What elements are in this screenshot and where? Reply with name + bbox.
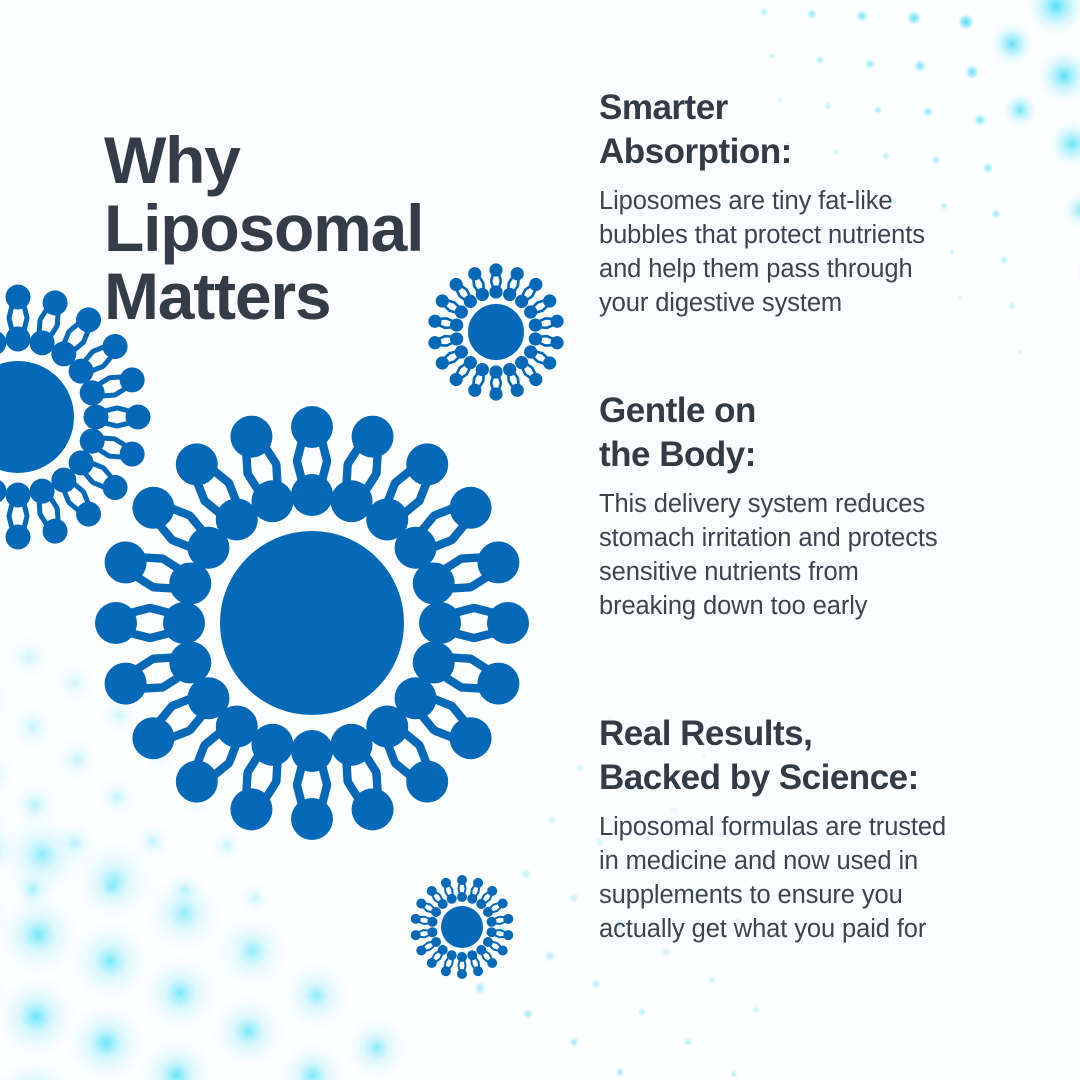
lipid-head — [419, 602, 461, 644]
benefit-heading: Real Results, Backed by Science: — [599, 712, 946, 800]
benefit-heading: Gentle on the Body: — [599, 389, 937, 477]
lipid-tail — [246, 773, 247, 794]
lipid-tail — [432, 954, 434, 959]
lipid-tail — [276, 465, 277, 486]
lipid-head — [489, 387, 502, 400]
lipid-tail — [212, 469, 228, 482]
lipid-tail — [471, 959, 472, 964]
lipid-tail — [446, 957, 449, 961]
lipid-tail — [460, 364, 466, 368]
lipid-head — [6, 483, 31, 508]
lipid-tail — [436, 959, 440, 962]
lipid-head — [6, 525, 31, 550]
lipid-tail — [485, 900, 489, 903]
lipid-tail — [482, 895, 484, 900]
lipid-tail — [395, 763, 411, 776]
lipid-tail — [39, 321, 40, 334]
lipid-tail — [431, 905, 435, 909]
lipid-tail — [452, 959, 453, 964]
lipid-tail — [454, 357, 459, 362]
lipid-tail — [432, 895, 434, 900]
lipid-tail — [418, 922, 423, 924]
lipid-tail — [464, 966, 465, 971]
lipid-tail — [265, 446, 276, 464]
lipid-tail — [449, 587, 470, 588]
lipid-tail — [447, 362, 454, 364]
benefit-block-real-results: Real Results, Backed by Science: Liposom… — [599, 712, 946, 946]
lipid-tail — [458, 889, 459, 894]
lipid-tail — [518, 379, 519, 386]
lipid-tail — [491, 376, 493, 383]
lipid-tail — [527, 364, 533, 368]
lipid-tail — [449, 965, 452, 969]
lipid-head — [457, 952, 467, 962]
lipid-head — [291, 798, 333, 840]
lipid-tail — [73, 483, 83, 491]
lipid-tail — [494, 949, 499, 950]
lipid-tail — [24, 503, 27, 516]
lipid-tail — [490, 895, 492, 900]
lipid-tail — [449, 657, 470, 658]
lipid-tail — [98, 449, 109, 456]
lipid-tail — [473, 379, 474, 386]
lipid-tail — [431, 946, 435, 950]
lipid-tail — [464, 883, 465, 888]
lipid-tail — [440, 895, 442, 900]
lipid-tail — [116, 388, 127, 395]
lipid-tail — [348, 446, 359, 464]
infographic-canvas: Why Liposomal Matters Smarter Absorption… — [0, 0, 1080, 1080]
lipid-tail — [246, 452, 247, 473]
lipid-head — [291, 474, 333, 516]
lipid-tail — [494, 903, 499, 904]
lipid-tail — [154, 657, 175, 658]
lipid-tail — [135, 576, 153, 587]
lipid-tail — [499, 383, 501, 390]
lipid-tail — [475, 892, 478, 896]
lipid-tail — [403, 501, 419, 514]
lipid-tail — [376, 773, 377, 794]
lipid-tail — [101, 438, 114, 439]
lipid-tail — [129, 633, 149, 638]
lipid-tail — [141, 687, 162, 688]
lipid-tail — [420, 714, 433, 730]
lipid-tail — [443, 676, 461, 687]
lipid-tail — [163, 676, 181, 687]
lipid-tail — [533, 357, 538, 362]
lipid-tail — [346, 465, 347, 486]
benefit-heading: Smarter Absorption: — [599, 86, 925, 174]
lipid-head — [291, 406, 333, 448]
lipid-tail — [452, 523, 465, 539]
lipid-tail — [365, 474, 376, 492]
lipid-tail — [98, 378, 109, 385]
lipid-tail — [297, 462, 302, 482]
lipid-tail — [425, 949, 430, 950]
lipid-tail — [50, 326, 57, 337]
lipid-head — [0, 330, 6, 355]
liposome-bottom-core — [441, 906, 483, 948]
lipid-tail — [472, 965, 475, 969]
lipid-tail — [322, 440, 327, 460]
lipid-tail — [39, 500, 40, 513]
lipid-tail — [104, 408, 117, 411]
lipid-tail — [452, 706, 465, 722]
lipid-head — [457, 969, 467, 979]
lipid-tail — [129, 608, 149, 613]
lipid-tail — [101, 395, 114, 396]
lipid-tail — [490, 905, 494, 909]
lipid-tail — [297, 786, 302, 806]
lipid-tail — [9, 503, 12, 516]
lipid-tail — [297, 440, 302, 460]
lipid-tail — [491, 383, 493, 390]
lipid-tail — [547, 336, 553, 339]
lipid-tail — [346, 760, 347, 781]
lipid-head — [6, 327, 31, 352]
lipid-tail — [118, 423, 131, 426]
lipid-tail — [40, 308, 47, 319]
lipid-tail — [456, 368, 459, 374]
lipid-tail — [543, 354, 548, 359]
lipid-tail — [205, 731, 221, 744]
lipid-tail — [190, 714, 203, 730]
lipid-tail — [322, 764, 327, 784]
lipid-tail — [522, 368, 525, 374]
lipid-tail — [322, 786, 327, 806]
lipid-tail — [436, 892, 440, 895]
lipid-tail — [104, 356, 112, 366]
lipid-tail — [472, 885, 475, 889]
lipid-tail — [479, 382, 483, 388]
liposome-left-core — [0, 361, 74, 473]
lipid-tail — [69, 323, 79, 331]
lipid-tail — [446, 892, 449, 896]
benefit-body: This delivery system reduces stomach irr… — [599, 487, 937, 623]
lipid-tail — [514, 372, 518, 378]
lipid-tail — [205, 501, 221, 514]
lipid-tail — [9, 319, 12, 332]
lipid-tail — [297, 764, 302, 784]
lipid-tail — [453, 633, 473, 638]
lipid-tail — [435, 900, 439, 903]
lipid-tail — [497, 907, 501, 911]
lipid-tail — [276, 760, 277, 781]
lipid-tail — [57, 312, 58, 325]
lipid-tail — [425, 917, 430, 919]
lipid-tail — [425, 935, 430, 937]
lipid-tail — [474, 372, 478, 378]
lipid-tail — [265, 782, 276, 800]
page-title: Why Liposomal Matters — [104, 126, 574, 330]
lipid-tail — [492, 911, 497, 912]
lipid-tail — [508, 374, 509, 381]
lipid-tail — [9, 305, 12, 318]
lipid-tail — [536, 351, 543, 353]
lipid-tail — [494, 917, 499, 919]
lipid-tail — [479, 887, 480, 892]
lipid-head — [6, 285, 31, 310]
lipid-tail — [135, 659, 153, 670]
lipid-tail — [539, 343, 545, 346]
lipid-head — [126, 405, 151, 430]
lipid-head — [457, 892, 467, 902]
lipid-tail — [418, 930, 423, 932]
lipid-tail — [376, 452, 377, 473]
lipid-head — [487, 602, 529, 644]
lipid-tail — [84, 352, 92, 362]
lipid-tail — [84, 472, 92, 482]
lipid-tail — [9, 517, 12, 530]
lipid-tail — [118, 408, 131, 411]
lipid-tail — [110, 456, 123, 457]
lipid-tail — [420, 516, 433, 532]
lipid-tail — [462, 557, 483, 558]
lipid-tail — [427, 942, 432, 943]
lipid-tail — [440, 954, 442, 959]
lipid-head — [489, 365, 502, 378]
lipid-tail — [475, 608, 495, 613]
lipid-tail — [501, 922, 506, 924]
benefit-body: Liposomes are tiny fat-like bubbles that… — [599, 184, 925, 320]
lipid-tail — [494, 935, 499, 937]
lipid-tail — [471, 659, 489, 670]
lipid-tail — [447, 343, 453, 346]
lipid-tail — [445, 962, 446, 967]
lipid-tail — [467, 368, 470, 374]
benefit-block-smarter-absorption: Smarter Absorption: Liposomes are tiny f… — [599, 86, 925, 320]
lipid-head — [291, 730, 333, 772]
lipid-tail — [427, 911, 432, 912]
lipid-tail — [24, 319, 27, 332]
lipid-tail — [248, 474, 259, 492]
lipid-tail — [110, 377, 123, 378]
lipid-tail — [458, 966, 459, 971]
lipid-tail — [482, 954, 484, 959]
lipid-tail — [438, 336, 444, 339]
lipid-tail — [158, 706, 171, 722]
lipid-tail — [24, 517, 27, 530]
lipid-tail — [443, 559, 461, 570]
lipid-tail — [248, 754, 259, 772]
lipid-tail — [525, 374, 531, 378]
lipid-tail — [533, 368, 536, 374]
lipid-tail — [450, 351, 457, 353]
lipid-tail — [104, 423, 117, 426]
lipid-tail — [403, 731, 419, 744]
lipid-tail — [501, 930, 506, 932]
lipid-tail — [509, 382, 513, 388]
lipid-tail — [322, 462, 327, 482]
lipid-tail — [425, 903, 430, 904]
lipid-tail — [461, 374, 467, 378]
lipid-tail — [40, 515, 47, 526]
lipid-tail — [490, 954, 492, 959]
lipid-tail — [471, 576, 489, 587]
lipid-tail — [50, 497, 57, 508]
lipid-tail — [483, 374, 484, 381]
lipid-tail — [212, 763, 228, 776]
lipid-tail — [540, 336, 547, 337]
lipid-tail — [475, 633, 495, 638]
benefit-body: Liposomal formulas are trusted in medici… — [599, 810, 946, 946]
lipid-head — [95, 602, 137, 644]
lipid-tail — [464, 889, 465, 894]
liposome-bottom-icon — [404, 869, 520, 985]
lipid-tail — [453, 608, 473, 613]
lipid-tail — [475, 957, 478, 961]
lipid-tail — [464, 960, 465, 965]
lipid-tail — [423, 907, 427, 911]
lipid-tail — [435, 951, 439, 954]
lipid-tail — [458, 960, 459, 965]
lipid-tail — [538, 362, 545, 364]
lipid-tail — [449, 885, 452, 889]
lipid-tail — [479, 962, 480, 967]
lipid-tail — [485, 951, 489, 954]
lipid-tail — [116, 439, 127, 446]
lipid-tail — [490, 946, 494, 950]
lipid-tail — [497, 943, 501, 947]
lipid-tail — [445, 336, 452, 337]
lipid-tail — [423, 943, 427, 947]
lipid-tail — [458, 883, 459, 888]
lipid-tail — [73, 343, 83, 351]
lipid-tail — [151, 608, 171, 613]
lipid-tail — [462, 687, 483, 688]
lipid-tail — [365, 754, 376, 772]
lipid-tail — [104, 468, 112, 478]
lipid-tail — [151, 633, 171, 638]
liposome-main-core — [220, 531, 404, 715]
lipid-tail — [444, 354, 449, 359]
lipid-tail — [499, 376, 501, 383]
lipid-tail — [395, 469, 411, 482]
lipid-tail — [348, 782, 359, 800]
lipid-head — [457, 875, 467, 885]
lipid-head — [163, 602, 205, 644]
lipid-tail — [57, 509, 58, 522]
lipid-tail — [484, 959, 488, 962]
lipid-head — [84, 405, 109, 430]
lipid-tail — [154, 587, 175, 588]
lipid-tail — [452, 890, 453, 895]
lipid-tail — [24, 305, 27, 318]
lipid-tail — [445, 887, 446, 892]
lipid-head — [0, 479, 6, 504]
lipid-tail — [69, 503, 79, 511]
benefit-block-gentle-on-the-body: Gentle on the Body: This delivery system… — [599, 389, 937, 623]
lipid-tail — [190, 516, 203, 532]
lipid-tail — [492, 942, 497, 943]
lipid-tail — [484, 892, 488, 895]
lipid-tail — [471, 890, 472, 895]
